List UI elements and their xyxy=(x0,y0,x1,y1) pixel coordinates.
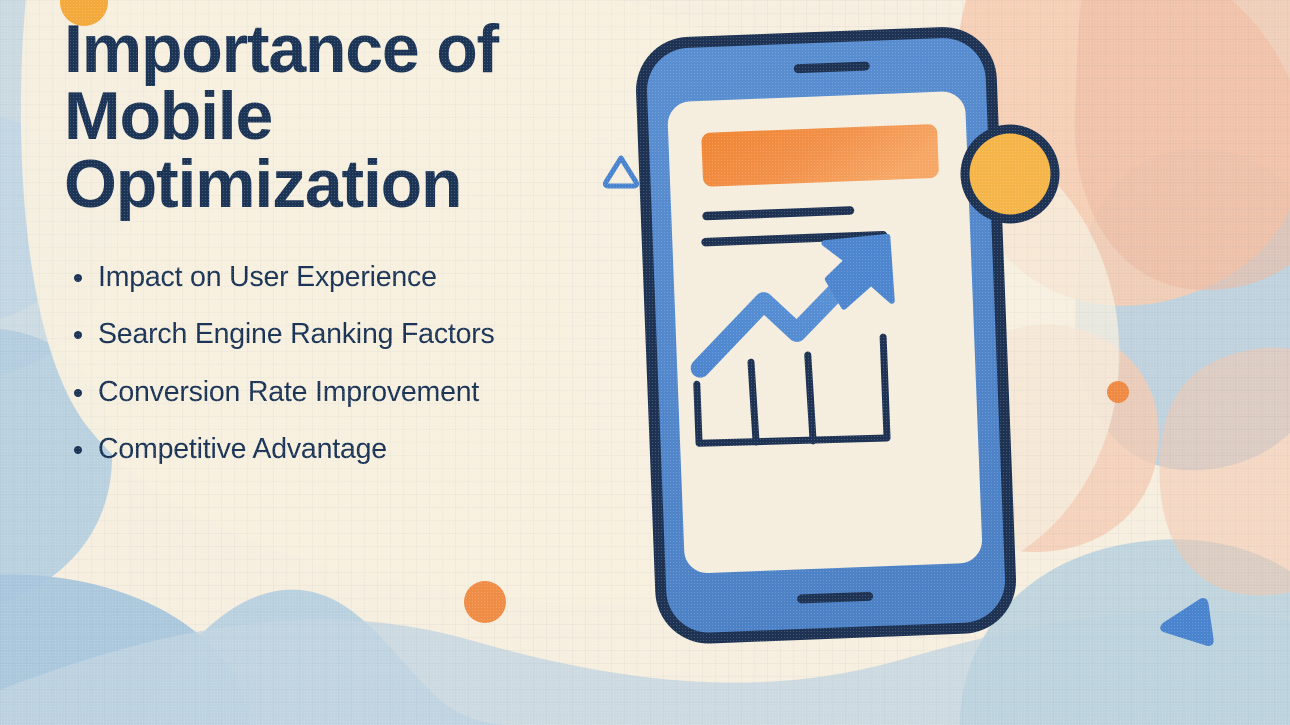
orange-banner[interactable] xyxy=(701,124,939,187)
list-item: Search Engine Ranking Factors xyxy=(68,319,664,350)
page-title: Importance of Mobile Optimization xyxy=(64,16,664,218)
list-item: Conversion Rate Improvement xyxy=(68,377,664,408)
bullet-list: Impact on User Experience Search Engine … xyxy=(68,262,664,465)
phone-illustration xyxy=(620,10,1100,710)
triangle-solid-icon xyxy=(1155,595,1217,653)
list-item: Competitive Advantage xyxy=(68,434,664,465)
slide-canvas: Importance of Mobile Optimization Impact… xyxy=(0,0,1290,725)
phone-svg xyxy=(620,10,1100,710)
yellow-badge-circle[interactable] xyxy=(965,129,1055,219)
list-item: Impact on User Experience xyxy=(68,262,664,293)
text-column: Importance of Mobile Optimization Impact… xyxy=(64,16,664,491)
